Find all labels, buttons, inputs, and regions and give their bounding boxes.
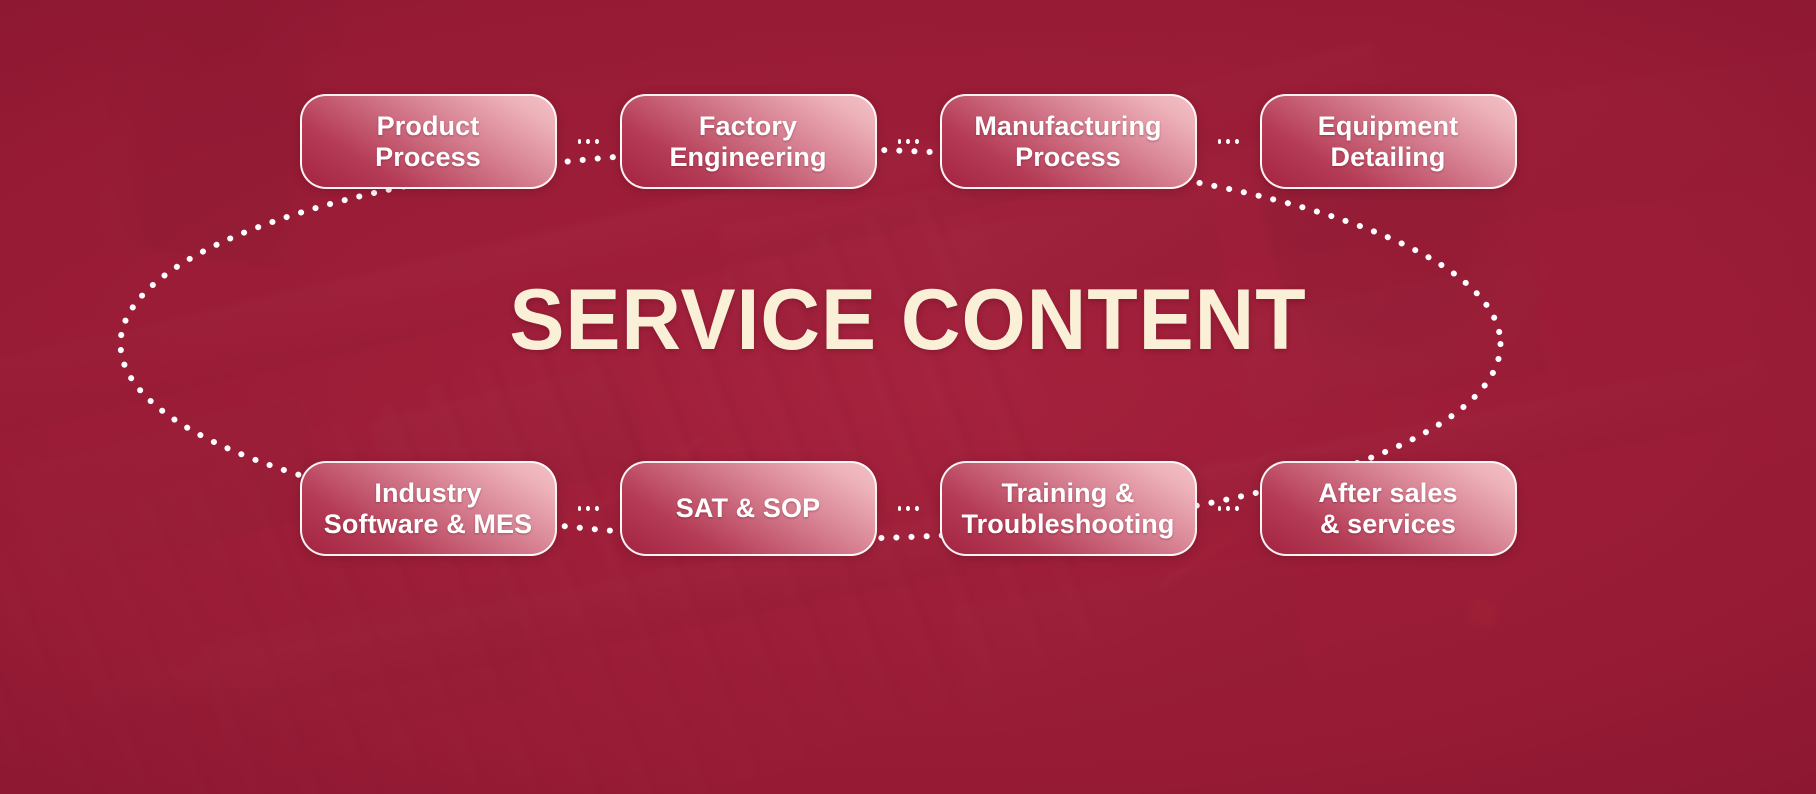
node-product-process[interactable]: Product Process <box>300 94 557 189</box>
node-industry-software-mes[interactable]: Industry Software & MES <box>300 461 557 556</box>
node-after-sales-services[interactable]: After sales & services <box>1260 461 1517 556</box>
node-equipment-detailing[interactable]: Equipment Detailing <box>1260 94 1517 189</box>
node-factory-engineering[interactable]: Factory Engineering <box>620 94 877 189</box>
connector-dots <box>578 139 599 145</box>
page-title: SERVICE CONTENT <box>36 277 1779 363</box>
connector-dots <box>1218 139 1239 145</box>
bottom-row: Industry Software & MES SAT & SOP Traini… <box>0 461 1816 556</box>
connector-dots <box>1218 506 1239 512</box>
node-sat-sop[interactable]: SAT & SOP <box>620 461 877 556</box>
node-training-troubleshooting[interactable]: Training & Troubleshooting <box>940 461 1197 556</box>
connector-dots <box>578 506 599 512</box>
service-content-diagram: Product Process Factory Engineering Manu… <box>0 0 1816 794</box>
node-manufacturing-process[interactable]: Manufacturing Process <box>940 94 1197 189</box>
connector-dots <box>898 506 919 512</box>
connector-dots <box>898 139 919 145</box>
top-row: Product Process Factory Engineering Manu… <box>0 94 1816 189</box>
